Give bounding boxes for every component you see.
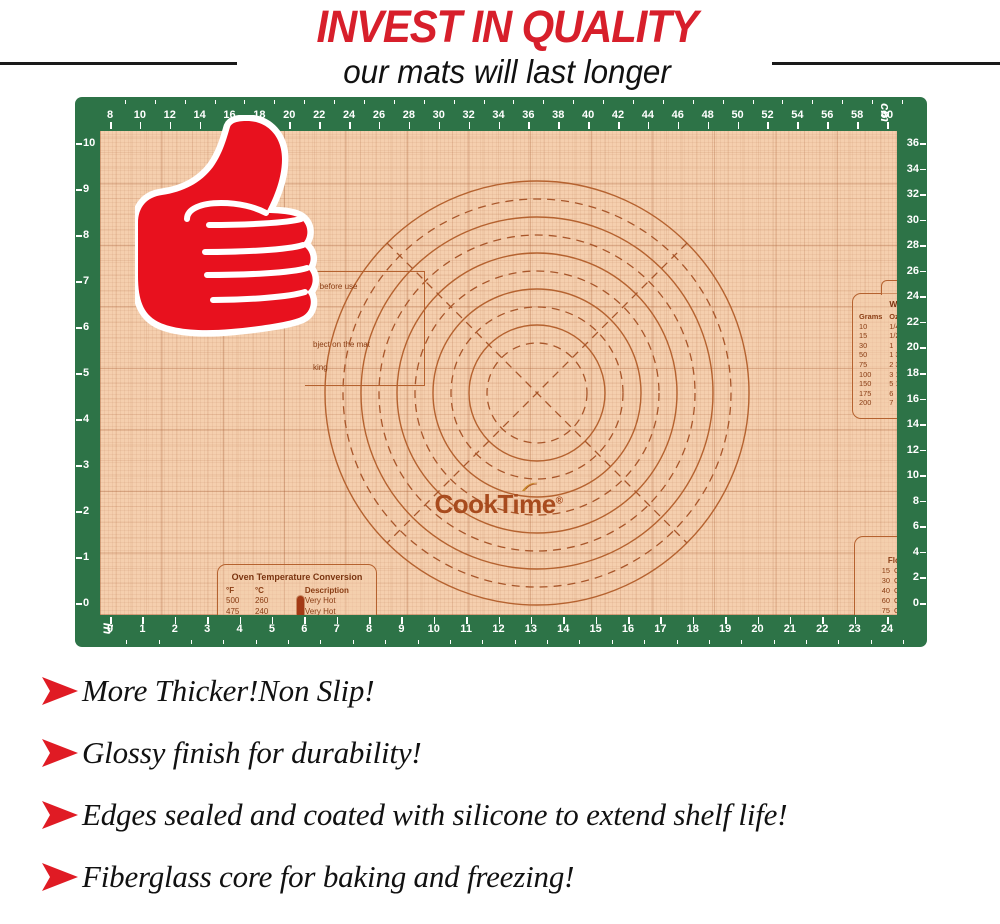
arrow-bullet-icon (38, 798, 82, 832)
ruler-tick (349, 122, 351, 129)
oven-panel-title: Oven Temperature Conversion (226, 572, 368, 582)
ruler-tick (920, 322, 926, 324)
arrow-bullet-icon (38, 860, 82, 894)
ruler-label: 20 (751, 623, 763, 635)
oven-f-value: 500 (226, 596, 255, 606)
ruler-label: 21 (784, 623, 796, 635)
cups-row: 75Gram=2/3cup (862, 606, 897, 615)
ruler-label: 6 (301, 623, 307, 635)
ruler-tick-minor (418, 640, 419, 644)
ruler-tick (409, 122, 411, 129)
ruler-label: 10 (428, 623, 440, 635)
ruler-label: 12 (907, 444, 919, 456)
ruler-label: 54 (791, 109, 803, 121)
ruler-label: 7 (83, 275, 89, 287)
ruler-label: 42 (612, 109, 624, 121)
weight-grams-column-left: Grams 10 15 30 50 75 100 150 175 200 (859, 312, 889, 408)
header-rule-left (0, 62, 237, 65)
ruler-label: 5 (83, 367, 89, 379)
ruler-tick-minor (513, 100, 514, 104)
ruler-label: 13 (525, 623, 537, 635)
ruler-tick (767, 122, 769, 129)
ruler-label: 36 (907, 137, 919, 149)
ruler-label: 10 (83, 137, 95, 149)
ruler-label: 44 (642, 109, 654, 121)
ruler-tick (920, 373, 926, 375)
ruler-label: 6 (913, 520, 919, 532)
ruler-label: 16 (622, 623, 634, 635)
ruler-tick-minor (155, 100, 156, 104)
ruler-tick (920, 296, 926, 298)
ruler-tick-minor (304, 100, 305, 104)
ruler-label: 6 (83, 321, 89, 333)
ruler-tick (528, 122, 530, 129)
ruler-tick (920, 399, 926, 401)
ruler-tick-minor (603, 100, 604, 104)
ruler-label: 1 (139, 623, 145, 635)
ruler-label: 4 (83, 413, 89, 425)
ruler-label: 0 (83, 597, 89, 609)
ruler-label: 8 (107, 109, 113, 121)
ruler-label: 34 (492, 109, 504, 121)
ruler-label: 20 (907, 341, 919, 353)
ruler-tick-minor (191, 640, 192, 644)
ruler-label: 8 (366, 623, 372, 635)
ruler-tick-minor (633, 100, 634, 104)
ruler-tick (499, 122, 501, 129)
ruler-label: 19 (719, 623, 731, 635)
ruler-label: 3 (204, 623, 210, 635)
ruler-label: 10 (907, 469, 919, 481)
list-item: More Thicker!Non Slip! (0, 660, 1000, 722)
ruler-tick (920, 450, 926, 452)
oven-temperature-panel: Oven Temperature Conversion °F 500 475 4… (217, 564, 377, 615)
ruler-tick (920, 424, 926, 426)
ruler-label: 22 (907, 316, 919, 328)
ruler-tick-minor (126, 640, 127, 644)
ruler-label: 7 (334, 623, 340, 635)
ruler-tick (76, 327, 82, 329)
ruler-tick-minor (484, 100, 485, 104)
ruler-tick-minor (394, 100, 395, 104)
ruler-tick (76, 603, 82, 605)
ruler-tick-minor (693, 100, 694, 104)
weight-panel-title: Weight Conversion (859, 299, 897, 309)
ruler-tick (469, 122, 471, 129)
ruler-tick (827, 122, 829, 129)
ruler-tick (920, 577, 926, 579)
ruler-label: 40 (582, 109, 594, 121)
brand-logo: CookTime® (434, 489, 562, 520)
ruler-label: 2 (913, 571, 919, 583)
ruler-label: 3 (83, 459, 89, 471)
ruler-label: 48 (702, 109, 714, 121)
ruler-tick-minor (274, 100, 275, 104)
cups-row: 60Gram=1/2cup (862, 596, 897, 606)
weight-gram-value: 50 (859, 350, 889, 360)
ruler-tick (920, 143, 926, 145)
weight-header-grams: Grams (859, 312, 889, 322)
ruler-label: 14 (557, 623, 569, 635)
cups-qty: 30 (870, 576, 890, 586)
ruler-tick (857, 122, 859, 129)
bullet-text: More Thicker!Non Slip! (82, 673, 374, 709)
ruler-tick-minor (709, 640, 710, 644)
ruler-tick-minor (515, 640, 516, 644)
ruler-tick-minor (159, 640, 160, 644)
oven-header-desc: Description (305, 586, 368, 596)
ruler-tick-minor (782, 100, 783, 104)
ruler-tick-minor (612, 640, 613, 644)
weight-oz-value: 1/2 (889, 331, 897, 341)
cups-qty: 40 (870, 586, 890, 596)
weight-oz-value: 1/4 (889, 322, 897, 332)
oven-desc-value: Very Hot (305, 607, 368, 615)
ruler-label: 32 (462, 109, 474, 121)
ruler-tick-minor (806, 640, 807, 644)
ruler-tick (797, 122, 799, 129)
ruler-tick (678, 122, 680, 129)
ruler-tick-minor (223, 640, 224, 644)
ruler-tick (920, 475, 926, 477)
weight-gram-value: 10 (859, 322, 889, 332)
ruler-tick (76, 143, 82, 145)
ruler-label: 2 (172, 623, 178, 635)
ruler-label: 12 (492, 623, 504, 635)
weight-header-oz: Oz (889, 312, 897, 322)
ruler-tick (920, 245, 926, 247)
ruler-tick-minor (353, 640, 354, 644)
wheat-icon (520, 482, 538, 492)
ruler-tick (920, 169, 926, 171)
ruler-tick (738, 122, 740, 129)
ruler-tick (76, 189, 82, 191)
ruler-tick-minor (872, 100, 873, 104)
ruler-tick-minor (288, 640, 289, 644)
cups-qty: 60 (870, 596, 890, 606)
ruler-tick-minor (871, 640, 872, 644)
cups-row: 40Gram=1/3cup (862, 586, 897, 596)
weight-gram-value: 75 (859, 360, 889, 370)
ruler-tick-minor (812, 100, 813, 104)
ruler-tick-minor (482, 640, 483, 644)
ruler-tick-minor (842, 100, 843, 104)
bullet-text: Fiberglass core for baking and freezing! (82, 859, 574, 895)
page-title: INVEST IN QUALITY (251, 3, 763, 51)
ruler-tick (920, 271, 926, 273)
cups-row: 30Gram=1/4cup (862, 576, 897, 586)
ruler-tick (439, 122, 441, 129)
ruler-tick (76, 235, 82, 237)
thermometer-stem (296, 595, 305, 615)
header-rule-right (772, 62, 1000, 65)
ruler-tick-minor (334, 100, 335, 104)
ruler-tick-minor (547, 640, 548, 644)
ruler-tick (618, 122, 620, 129)
page-subtitle: our mats will last longer (246, 53, 769, 91)
ruler-tick-minor (579, 640, 580, 644)
ruler-label: 24 (881, 623, 893, 635)
ruler-label: 50 (731, 109, 743, 121)
ruler-tick-minor (320, 640, 321, 644)
ruler-label: 8 (913, 495, 919, 507)
ruler-tick-minor (902, 100, 903, 104)
ruler-tick (920, 526, 926, 528)
weight-gram-value: 100 (859, 370, 889, 380)
ruler-tick (588, 122, 590, 129)
cups-unit: Gram (890, 586, 897, 596)
ruler-unit-label: in (100, 623, 115, 635)
ruler-tick-minor (774, 640, 775, 644)
ruler-tick (920, 220, 926, 222)
ruler-label: 2 (83, 505, 89, 517)
weight-oz-value: 5 1/2 (889, 379, 897, 389)
ruler-tick-minor (677, 640, 678, 644)
ruler-label: 24 (343, 109, 355, 121)
oven-header-f: °F (226, 586, 255, 596)
ruler-label: 26 (373, 109, 385, 121)
oven-celsius-column: °C 260 240 230 220 200 190 180 170 150 1… (255, 586, 284, 615)
ruler-tick-minor (244, 100, 245, 104)
ruler-tick-minor (663, 100, 664, 104)
ruler-label: 30 (433, 109, 445, 121)
cups-row: 15Gram=1/8cup (862, 566, 897, 576)
ruler-tick-minor (723, 100, 724, 104)
cups-unit: Gram (890, 566, 897, 576)
ruler-tick (110, 122, 112, 129)
ruler-label: 17 (654, 623, 666, 635)
weight-oz-column-left: Oz 1/4 1/2 1 1 3/4 2 3/4 3 1/2 5 1/2 6 7 (889, 312, 897, 408)
ruler-label: 56 (821, 109, 833, 121)
oven-description-column: Description Very Hot Very Hot — Hot — Mo… (305, 586, 368, 615)
ruler-label: 28 (403, 109, 415, 121)
arrow-bullet-icon (38, 674, 82, 708)
ruler-tick (76, 419, 82, 421)
ruler-label: 58 (851, 109, 863, 121)
weight-gram-value: 15 (859, 331, 889, 341)
ruler-unit-label: cm (878, 103, 893, 122)
ruler-tick-minor (185, 100, 186, 104)
ruler-tick (76, 373, 82, 375)
ruler-label: 18 (907, 367, 919, 379)
ruler-label: 4 (913, 546, 919, 558)
ruler-label: 8 (83, 229, 89, 241)
ruler-tick (920, 194, 926, 196)
oven-desc-value: Very Hot (305, 596, 368, 606)
ruler-tick-minor (903, 640, 904, 644)
ruler-tick (76, 281, 82, 283)
product-mat: CookTime® e before use bject on the mat … (75, 97, 927, 647)
weight-oz-value: 1 (889, 341, 897, 351)
ruler-tick (558, 122, 560, 129)
weight-oz-value: 7 (889, 398, 897, 408)
cups-qty: 75 (870, 606, 890, 615)
ruler-tick (76, 511, 82, 513)
ruler-tick-minor (741, 640, 742, 644)
ruler-label: 28 (907, 239, 919, 251)
thumbs-up-icon (135, 115, 330, 377)
ruler-label: 9 (83, 183, 89, 195)
ruler-label: 14 (907, 418, 919, 430)
ruler-label: 5 (269, 623, 275, 635)
thermometer-icon (293, 595, 308, 615)
arrow-bullet-icon (38, 736, 82, 770)
oven-header-c: °C (255, 586, 284, 596)
ruler-tick (920, 347, 926, 349)
ruler-label: 23 (849, 623, 861, 635)
ruler-label: 36 (522, 109, 534, 121)
weight-oz-value: 2 3/4 (889, 360, 897, 370)
ruler-label: 11 (460, 623, 472, 635)
ruler-tick-minor (450, 640, 451, 644)
ruler-tick-minor (256, 640, 257, 644)
ruler-label: 24 (907, 290, 919, 302)
list-item: Fiberglass core for baking and freezing! (0, 846, 1000, 908)
registered-mark: ® (556, 495, 563, 506)
oven-f-value: 475 (226, 607, 255, 615)
cups-unit: Gram (890, 576, 897, 586)
header-banner: INVEST IN QUALITY our mats will last lon… (0, 0, 1000, 96)
ruler-tick (648, 122, 650, 129)
ruler-label: 22 (816, 623, 828, 635)
cups-qty: 15 (870, 566, 890, 576)
ruler-tick-minor (125, 100, 126, 104)
ruler-tick (920, 552, 926, 554)
cups-unit: Gram (890, 606, 897, 615)
list-item: Glossy finish for durability! (0, 722, 1000, 784)
oven-c-value: 240 (255, 607, 284, 615)
ruler-tick (76, 465, 82, 467)
ruler-tick-minor (838, 640, 839, 644)
weight-oz-value: 3 1/2 (889, 370, 897, 380)
ruler-tick-minor (644, 640, 645, 644)
ruler-label: 0 (913, 597, 919, 609)
cups-section-flour: Flour and Icing Sugar (862, 556, 897, 565)
bullet-text: Edges sealed and coated with silicone to… (82, 797, 787, 833)
brand-name: CookTime (434, 489, 555, 519)
weight-gram-value: 150 (859, 379, 889, 389)
cups-unit: Gram (890, 596, 897, 606)
ruler-tick (379, 122, 381, 129)
ruler-label: 1 (83, 551, 89, 563)
ruler-tick-minor (543, 100, 544, 104)
weight-gram-value: 30 (859, 341, 889, 351)
ruler-right-cm: 024681012141618202224262830323436 (897, 131, 927, 615)
ruler-tick-minor (753, 100, 754, 104)
ruler-label: 4 (236, 623, 242, 635)
ruler-tick (708, 122, 710, 129)
bullet-text: Glossy finish for durability! (82, 735, 422, 771)
ruler-label: 32 (907, 188, 919, 200)
ruler-label: 46 (672, 109, 684, 121)
ruler-label: 16 (907, 393, 919, 405)
ruler-label: 30 (907, 214, 919, 226)
list-item: Edges sealed and coated with silicone to… (0, 784, 1000, 846)
cups-conversion-panel: CUPS(US) Flour and Icing Sugar 15Gram=1/… (854, 536, 897, 615)
ruler-tick-minor (573, 100, 574, 104)
weight-conversion-panel: Weight Conversion Grams 10 15 30 50 75 1… (852, 293, 897, 419)
ruler-tick (76, 557, 82, 559)
ruler-tick-minor (424, 100, 425, 104)
weight-gram-value: 200 (859, 398, 889, 408)
ruler-label: 52 (761, 109, 773, 121)
feature-bullet-list: More Thicker!Non Slip! Glossy finish for… (0, 660, 1000, 908)
ruler-tick (887, 122, 889, 129)
weight-oz-value: 1 3/4 (889, 350, 897, 360)
ruler-tick (920, 501, 926, 503)
ruler-tick-minor (364, 100, 365, 104)
ruler-left-inch: 012345678910 (75, 131, 100, 615)
oven-fahrenheit-column: °F 500 475 450 425 400 375 350 325 300 2… (226, 586, 255, 615)
weight-gram-value: 175 (859, 389, 889, 399)
ruler-tick-minor (215, 100, 216, 104)
oven-c-value: 260 (255, 596, 284, 606)
ruler-tick-minor (385, 640, 386, 644)
ruler-label: 15 (590, 623, 602, 635)
ruler-label: 18 (687, 623, 699, 635)
ruler-label: 9 (398, 623, 404, 635)
ruler-label: 26 (907, 265, 919, 277)
ruler-tick-minor (454, 100, 455, 104)
cups-panel-title: CUPS(US) (862, 543, 897, 554)
ruler-bottom-inch: 0123456789101112131415161718192021222324… (100, 615, 897, 647)
ruler-label: 34 (907, 163, 919, 175)
weight-oz-value: 6 (889, 389, 897, 399)
ruler-tick (920, 603, 926, 605)
ruler-label: 38 (552, 109, 564, 121)
